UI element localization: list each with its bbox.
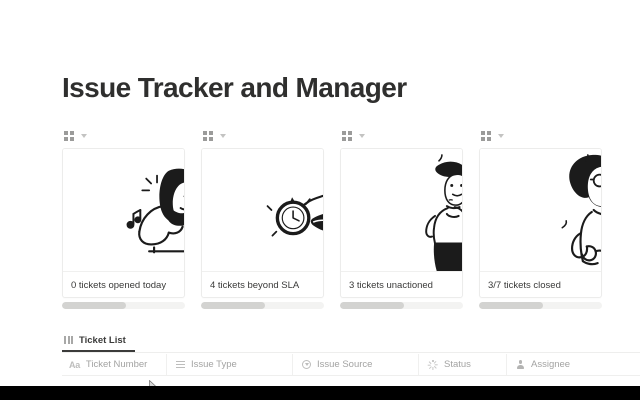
hand-holding-pocket-watch-illustration xyxy=(202,149,323,271)
grid-2x2-icon[interactable] xyxy=(203,131,213,141)
letterbox-bar xyxy=(0,386,640,400)
metric-card[interactable]: 3 tickets unactioned xyxy=(340,148,463,298)
column-label: Assignee xyxy=(531,359,570,370)
tab-label: Ticket List xyxy=(79,335,126,346)
column-header-issue-source[interactable]: Issue Source xyxy=(293,354,419,375)
card-caption: 4 tickets beyond SLA xyxy=(202,271,323,298)
woman-listening-to-music-illustration xyxy=(63,149,184,271)
chevron-down-icon[interactable] xyxy=(359,134,365,138)
card-scrollbar[interactable] xyxy=(340,302,463,309)
metric-card-container: 3 tickets unactioned xyxy=(340,124,463,309)
metric-card[interactable]: 3/7 tickets closed xyxy=(479,148,602,298)
card-header-2[interactable] xyxy=(201,124,324,148)
card-caption: 0 tickets opened today xyxy=(63,271,184,298)
column-header-issue-type[interactable]: Issue Type xyxy=(167,354,293,375)
metric-card-container: 4 tickets beyond SLA xyxy=(201,124,324,309)
card-scrollbar[interactable] xyxy=(479,302,602,309)
chevron-down-icon[interactable] xyxy=(498,134,504,138)
metric-card-row: 0 tickets opened today xyxy=(62,124,640,309)
select-circle-icon xyxy=(302,360,311,369)
tab-ticket-list[interactable]: Ticket List xyxy=(62,330,135,352)
card-scrollbar[interactable] xyxy=(201,302,324,309)
table-view-icon xyxy=(64,336,73,344)
app-root: Issue Tracker and Manager xyxy=(0,0,640,400)
card-header-4[interactable] xyxy=(479,124,602,148)
chevron-down-icon[interactable] xyxy=(220,134,226,138)
text-aa-icon: Aa xyxy=(69,360,80,370)
metric-card-container: 0 tickets opened today xyxy=(62,124,185,309)
metric-card[interactable]: 0 tickets opened today xyxy=(62,148,185,298)
card-header-3[interactable] xyxy=(340,124,463,148)
column-label: Ticket Number xyxy=(86,359,147,370)
column-header-assignee[interactable]: Assignee xyxy=(507,354,607,375)
card-caption: 3/7 tickets closed xyxy=(480,271,601,298)
person-icon xyxy=(516,360,525,369)
column-label: Status xyxy=(444,359,471,370)
woman-standing-shrugging-illustration xyxy=(341,149,462,271)
column-header-ticket-number[interactable]: Aa Ticket Number xyxy=(62,354,167,375)
card-caption: 3 tickets unactioned xyxy=(341,271,462,298)
view-tabs: Ticket List xyxy=(62,330,640,353)
column-label: Issue Type xyxy=(191,359,237,370)
column-header-status[interactable]: Status xyxy=(419,354,507,375)
metric-card-container: 3/7 tickets closed xyxy=(479,124,602,309)
status-spinner-icon xyxy=(428,360,438,370)
card-scrollbar[interactable] xyxy=(62,302,185,309)
table-column-headers: Aa Ticket Number Issue Type Issue Source… xyxy=(62,354,640,376)
column-label: Issue Source xyxy=(317,359,372,370)
woman-with-glasses-thinking-illustration xyxy=(480,149,601,271)
chevron-down-icon[interactable] xyxy=(81,134,87,138)
metric-card[interactable]: 4 tickets beyond SLA xyxy=(201,148,324,298)
grid-2x2-icon[interactable] xyxy=(481,131,491,141)
page-title: Issue Tracker and Manager xyxy=(62,72,407,104)
card-header-1[interactable] xyxy=(62,124,185,148)
multi-select-list-icon xyxy=(176,361,185,369)
grid-2x2-icon[interactable] xyxy=(64,131,74,141)
grid-2x2-icon[interactable] xyxy=(342,131,352,141)
